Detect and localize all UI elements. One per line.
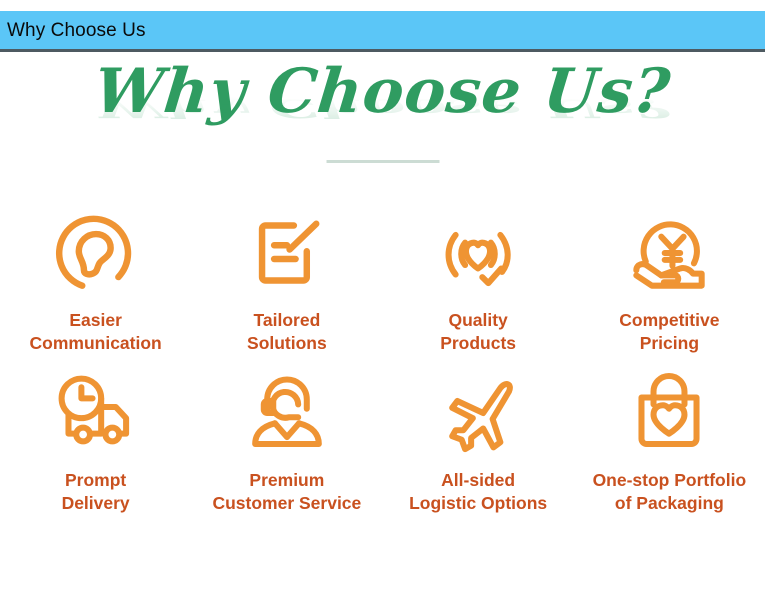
truck-clock-icon <box>48 365 144 461</box>
page-title: Why Choose Us? <box>0 61 765 122</box>
feature-item-premium-customer-service[interactable]: Premium Customer Service <box>191 355 382 515</box>
feature-label: One-stop Portfolio of Packaging <box>593 469 747 515</box>
feature-item-competitive-pricing[interactable]: Competitive Pricing <box>574 195 765 355</box>
feature-item-quality-products[interactable]: Quality Products <box>383 195 574 355</box>
feature-label: Competitive Pricing <box>619 309 719 355</box>
heading-divider <box>326 160 439 163</box>
feature-item-prompt-delivery[interactable]: Prompt Delivery <box>0 355 191 515</box>
feature-item-one-stop-portfolio-of-packaging[interactable]: One-stop Portfolio of Packaging <box>574 355 765 515</box>
heart-soundwave-check-icon <box>430 205 526 301</box>
headset-agent-icon <box>239 365 335 461</box>
page-heading-area: Why Choose Us? Why Choose Us? <box>0 55 765 160</box>
feature-grid: Easier Communication Tailored Solutions <box>0 195 765 515</box>
hand-yen-coin-icon <box>621 205 717 301</box>
feature-item-easier-communication[interactable]: Easier Communication <box>0 195 191 355</box>
window-title: Why Choose Us <box>0 21 146 40</box>
ear-listening-icon <box>48 205 144 301</box>
feature-label: All-sided Logistic Options <box>409 469 547 515</box>
shopping-bag-heart-icon <box>621 365 717 461</box>
document-pencil-icon <box>239 205 335 301</box>
feature-label: Tailored Solutions <box>247 309 327 355</box>
feature-label: Premium Customer Service <box>212 469 361 515</box>
feature-label: Quality Products <box>440 309 516 355</box>
feature-label: Prompt Delivery <box>62 469 130 515</box>
page-content: Why Choose Us? Why Choose Us? Easier Com… <box>0 55 765 599</box>
feature-label: Easier Communication <box>30 309 162 355</box>
window-title-bar: Why Choose Us <box>0 11 765 52</box>
feature-item-all-sided-logistic-options[interactable]: All-sided Logistic Options <box>383 355 574 515</box>
airplane-icon <box>430 365 526 461</box>
feature-item-tailored-solutions[interactable]: Tailored Solutions <box>191 195 382 355</box>
